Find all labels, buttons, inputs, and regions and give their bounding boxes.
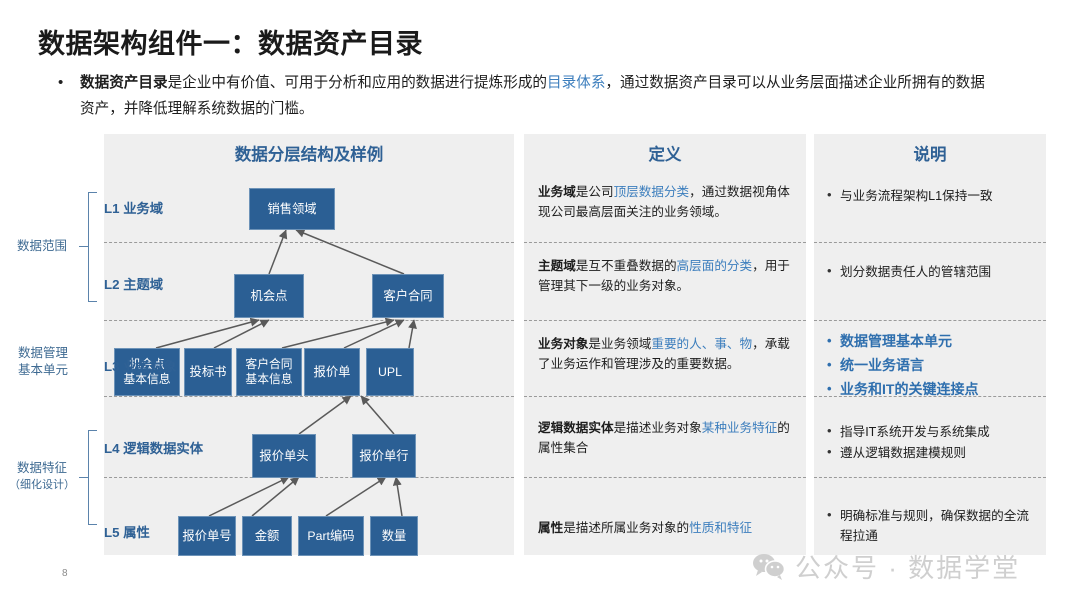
- list-item: 数据管理基本单元: [826, 330, 1036, 353]
- page-number: 8: [62, 568, 68, 579]
- node-quotation-number[interactable]: 报价单号: [178, 516, 236, 556]
- node-contract-basic-info-l1: 客户合同: [245, 357, 292, 372]
- page-title: 数据架构组件一：数据资产目录: [38, 22, 423, 61]
- list-item: 业务和IT的关键连接点: [826, 378, 1036, 401]
- node-opportunity[interactable]: 机会点: [234, 274, 304, 318]
- node-part-code[interactable]: Part编码: [298, 516, 364, 556]
- axis-label-data-feature-l2: （细化设计）: [2, 477, 82, 494]
- explanation-list-l4: 指导IT系统开发与系统集成 遵从逻辑数据建模规则: [826, 422, 1036, 463]
- axis-label-data-mgmt: 数据管理 基本单元: [4, 345, 82, 379]
- definition-l4-blue: 某种业务特征: [702, 421, 778, 435]
- explanation-cell-l4: 指导IT系统开发与系统集成 遵从逻辑数据建模规则: [826, 422, 1036, 464]
- column-definition: 定义 业务域是公司顶层数据分类，通过数据视角体现公司最高层面关注的业务领域。 主…: [524, 134, 806, 555]
- lead-seg-blue: 目录体系: [547, 75, 605, 91]
- axis-label-data-mgmt-l1: 数据管理: [4, 345, 82, 362]
- list-item: 与业务流程架构L1保持一致: [826, 186, 1036, 206]
- column-explanation: 说明 与业务流程架构L1保持一致 划分数据责任人的管辖范围 数据管理基本单元 统…: [814, 134, 1046, 555]
- definition-l1-term: 业务域: [538, 185, 576, 199]
- definition-cell-l5: 属性是描述所属业务对象的性质和特征: [538, 518, 794, 538]
- level-label-l3: L3 业务对象: [104, 356, 176, 375]
- node-bid-document[interactable]: 投标书: [184, 348, 232, 396]
- node-quotation[interactable]: 报价单: [304, 348, 360, 396]
- column-structure: 数据分层结构及样例 L1 业务域 L2 主题域 L3 业务对象 L4 逻辑数据实…: [104, 134, 514, 555]
- node-sales-domain[interactable]: 销售领域: [249, 188, 335, 230]
- lead-text: 数据资产目录是企业中有价值、可用于分析和应用的数据进行提炼形成的目录体系，通过数…: [80, 70, 998, 122]
- column-explanation-header: 说明: [814, 134, 1046, 172]
- slide-root: 数据架构组件一：数据资产目录 • 数据资产目录是企业中有价值、可用于分析和应用的…: [0, 0, 1080, 608]
- definition-cell-l3: 业务对象是业务领域重要的人、事、物，承载了业务运作和管理涉及的重要数据。: [538, 334, 794, 374]
- column-definition-header: 定义: [524, 134, 806, 172]
- definition-l5-term: 属性: [538, 521, 563, 535]
- list-item: 划分数据责任人的管辖范围: [826, 262, 1036, 282]
- definition-l2-t1: 是互不重叠数据的: [576, 259, 677, 273]
- node-contract-basic-info-l2: 基本信息: [245, 372, 292, 387]
- list-item: 指导IT系统开发与系统集成: [826, 422, 1036, 442]
- def-separator-2: [524, 320, 806, 321]
- tick-data-scope: [79, 246, 88, 247]
- definition-l5-blue: 性质和特征: [689, 521, 752, 535]
- definition-l2-term: 主题域: [538, 259, 576, 273]
- node-customer-contract[interactable]: 客户合同: [372, 274, 444, 318]
- list-item: 明确标准与规则，确保数据的全流程拉通: [826, 506, 1036, 546]
- node-amount[interactable]: 金额: [242, 516, 292, 556]
- node-contract-basic-info[interactable]: 客户合同 基本信息: [236, 348, 302, 396]
- node-quotation-line[interactable]: 报价单行: [352, 434, 416, 478]
- node-quantity[interactable]: 数量: [370, 516, 418, 556]
- definition-cell-l2: 主题域是互不重叠数据的高层面的分类，用于管理其下一级的业务对象。: [538, 256, 794, 296]
- axis-label-data-feature-l1: 数据特征: [2, 460, 82, 477]
- axis-label-data-feature: 数据特征 （细化设计）: [2, 460, 82, 494]
- explanation-list-l3: 数据管理基本单元 统一业务语言 业务和IT的关键连接点: [826, 330, 1036, 401]
- definition-l4-term: 逻辑数据实体: [538, 421, 614, 435]
- explanation-list-l1: 与业务流程架构L1保持一致: [826, 186, 1036, 206]
- explanation-cell-l5: 明确标准与规则，确保数据的全流程拉通: [826, 506, 1036, 547]
- node-upl[interactable]: UPL: [366, 348, 414, 396]
- lead-bullet-icon: •: [58, 75, 63, 90]
- bracket-data-scope: [88, 192, 97, 302]
- explanation-cell-l1: 与业务流程架构L1保持一致: [826, 186, 1036, 207]
- definition-l4-t1: 是描述业务对象: [614, 421, 702, 435]
- bracket-data-feature: [88, 430, 97, 525]
- explanation-list-l5: 明确标准与规则，确保数据的全流程拉通: [826, 506, 1036, 546]
- list-item: 遵从逻辑数据建模规则: [826, 443, 1036, 463]
- explanation-cell-l2: 划分数据责任人的管辖范围: [826, 262, 1036, 283]
- exp-separator-2: [814, 320, 1046, 321]
- level-label-l2: L2 主题域: [104, 274, 163, 293]
- axis-label-data-scope: 数据范围: [6, 238, 78, 255]
- explanation-cell-l3: 数据管理基本单元 统一业务语言 业务和IT的关键连接点: [826, 330, 1036, 402]
- list-item: 统一业务语言: [826, 354, 1036, 377]
- definition-cell-l4: 逻辑数据实体是描述业务对象某种业务特征的属性集合: [538, 418, 794, 458]
- level-label-l5: L5 属性: [104, 522, 150, 541]
- definition-l1-t1: 是公司: [576, 185, 614, 199]
- definition-l5-t1: 是描述所属业务对象的: [563, 521, 689, 535]
- def-separator-4: [524, 477, 806, 478]
- level-label-l4: L4 逻辑数据实体: [104, 438, 203, 457]
- axis-label-data-mgmt-l2: 基本单元: [4, 362, 82, 379]
- definition-l1-blue: 顶层数据分类: [614, 185, 690, 199]
- def-separator-3: [524, 396, 806, 397]
- definition-l3-t1: 是业务领域: [588, 337, 651, 351]
- definition-l3-blue: 重要的人、事、物: [651, 337, 752, 351]
- watermark: 公众号 · 数据学堂: [752, 548, 1020, 585]
- def-separator-1: [524, 242, 806, 243]
- lead-seg-bold: 数据资产目录: [80, 75, 168, 91]
- definition-cell-l1: 业务域是公司顶层数据分类，通过数据视角体现公司最高层面关注的业务领域。: [538, 182, 794, 222]
- lead-paragraph: • 数据资产目录是企业中有价值、可用于分析和应用的数据进行提炼形成的目录体系，通…: [58, 70, 998, 122]
- exp-separator-4: [814, 477, 1046, 478]
- level-label-l1: L1 业务域: [104, 198, 163, 217]
- lead-seg-2: 是企业中有价值、可用于分析和应用的数据进行提炼形成的: [168, 75, 547, 91]
- wechat-icon: [752, 553, 786, 581]
- explanation-list-l2: 划分数据责任人的管辖范围: [826, 262, 1036, 282]
- watermark-text: 公众号 · 数据学堂: [795, 548, 1020, 585]
- definition-l3-term: 业务对象: [538, 337, 588, 351]
- node-quotation-header[interactable]: 报价单头: [252, 434, 316, 478]
- exp-separator-1: [814, 242, 1046, 243]
- axis-label-data-scope-text: 数据范围: [17, 239, 67, 253]
- definition-l2-blue: 高层面的分类: [677, 259, 753, 273]
